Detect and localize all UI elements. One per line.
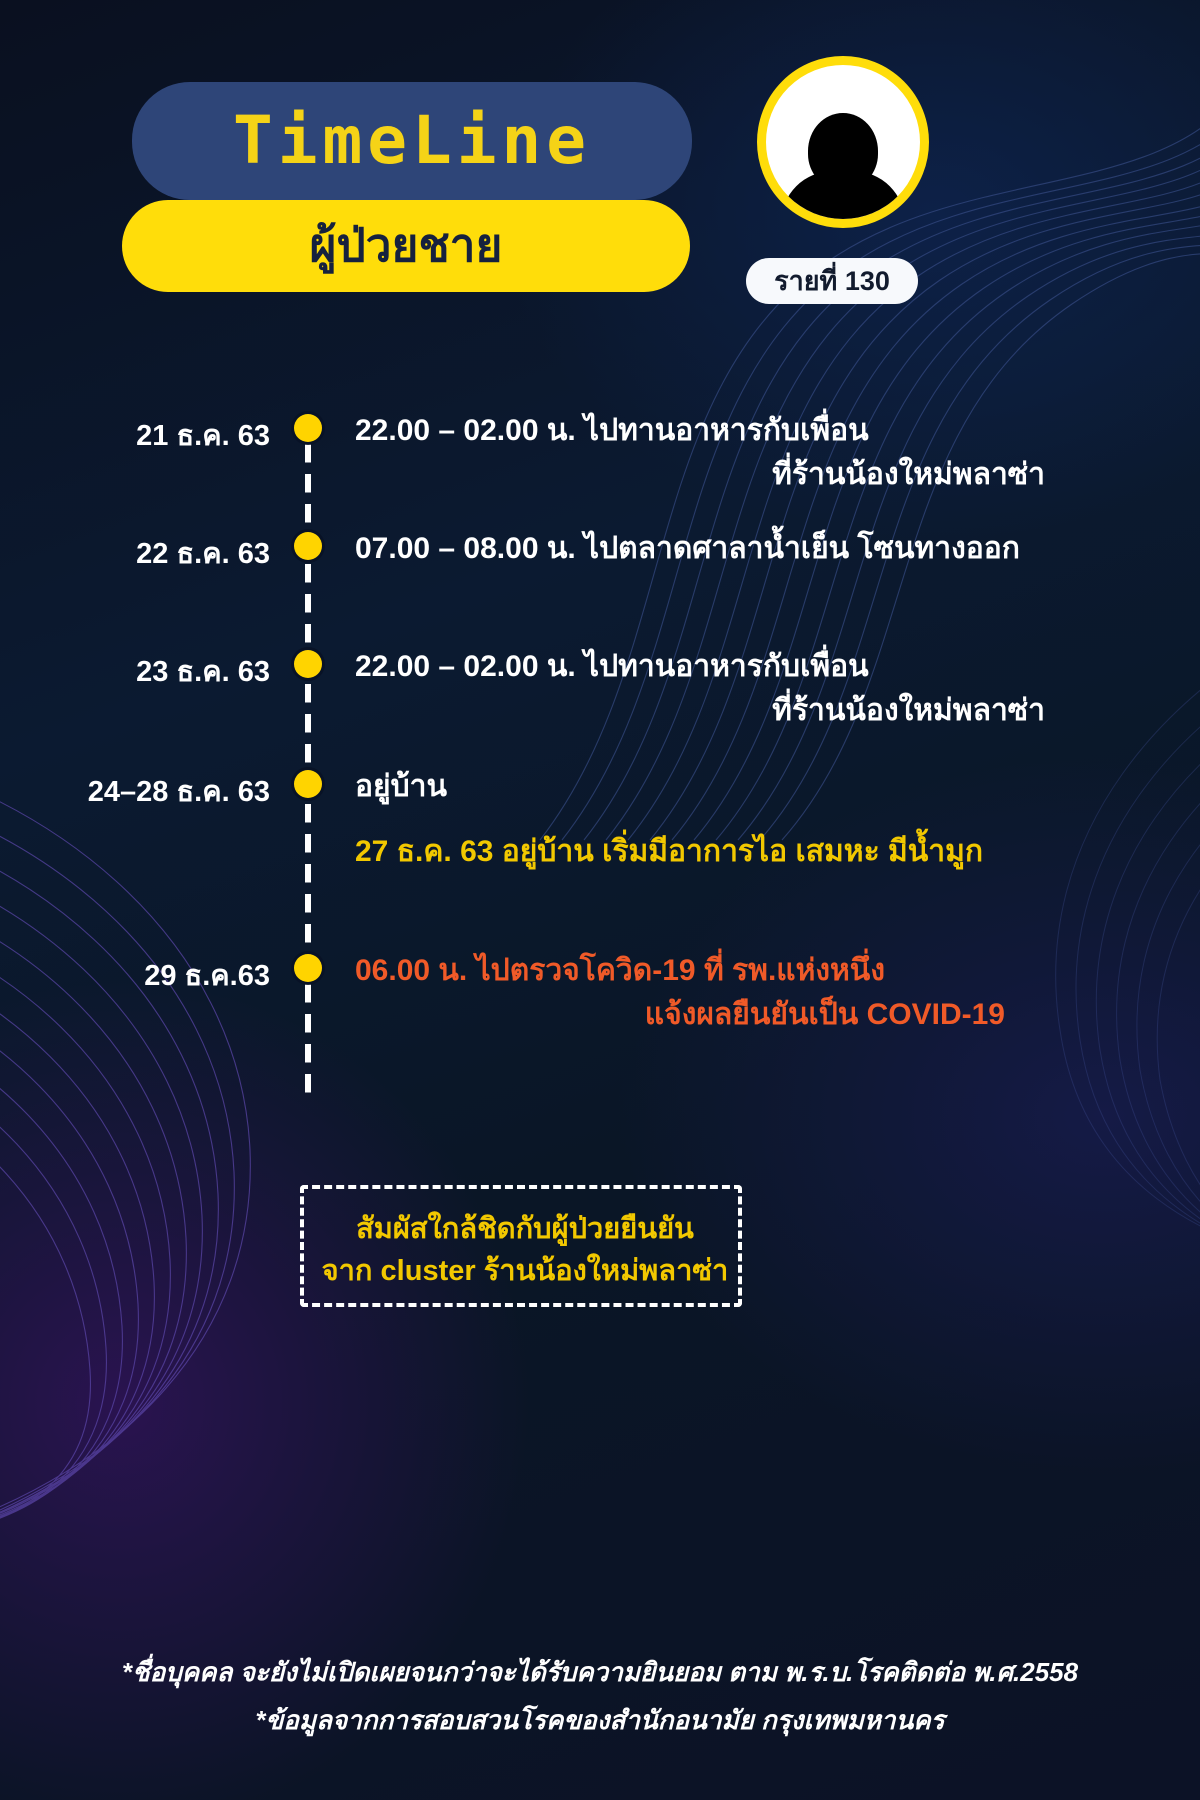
avatar-body-shape [781,171,905,223]
timeline-text: ที่ร้านน้องใหม่พลาซ่า [355,689,1045,733]
timeline-date: 24–28 ธ.ค. 63 [0,768,270,814]
timeline-body: 22.00 – 02.00 น. ไปทานอาหารกับเพื่อน ที่… [355,409,1045,497]
status-badge: รายที่ 130 [746,258,918,304]
avatar [757,56,929,228]
callout-content: สัมผัสใกล้ชิดกับผู้ป่วยยืนยัน จาก cluste… [304,1189,746,1311]
person-silhouette-icon [784,111,902,223]
timeline-text: อยู่บ้าน [355,765,1045,809]
page-title: TimeLine [132,82,692,200]
timeline-dot-icon [294,650,322,678]
timeline-infographic: TimeLine ผู้ป่วยชาย รายที่ 130 21 ธ.ค. 6… [0,0,1200,1800]
timeline-text: 07.00 – 08.00 น. ไปตลาดศาลาน้ำเย็น โซนทา… [355,527,1075,571]
timeline-text: 22.00 – 02.00 น. ไปทานอาหารกับเพื่อน [355,409,1045,453]
timeline-body: อยู่บ้าน [355,765,1045,809]
timeline-date: 29 ธ.ค.63 [0,952,270,998]
footer-line-2: *ข้อมูลจากการสอบสวนโรคของสำนักอนามัย กรุ… [0,1696,1200,1744]
timeline-text: 06.00 น. ไปตรวจโควิด-19 ที่ รพ.แห่งหนึ่ง [355,949,1005,993]
timeline-date: 22 ธ.ค. 63 [0,530,270,576]
timeline-dot-icon [294,954,322,982]
timeline-text: ที่ร้านน้องใหม่พลาซ่า [355,453,1045,497]
timeline-text: 22.00 – 02.00 น. ไปทานอาหารกับเพื่อน [355,645,1045,689]
timeline-body: 06.00 น. ไปตรวจโควิด-19 ที่ รพ.แห่งหนึ่ง… [355,949,1005,1037]
timeline-note: 27 ธ.ค. 63 อยู่บ้าน เริ่มมีอาการไอ เสมหะ… [355,830,1045,874]
footer-notes: *ชื่อบุคคล จะยังไม่เปิดเผยจนกว่าจะได้รับ… [0,1648,1200,1744]
page-subtitle: ผู้ป่วยชาย [122,200,690,292]
footer-line-1: *ชื่อบุคคล จะยังไม่เปิดเผยจนกว่าจะได้รับ… [0,1648,1200,1696]
timeline-body: 07.00 – 08.00 น. ไปตลาดศาลาน้ำเย็น โซนทา… [355,527,1075,571]
callout-line-2: จาก cluster ร้านน้องใหม่พลาซ่า [322,1250,729,1292]
timeline-text: แจ้งผลยืนยันเป็น COVID-19 [355,993,1005,1037]
timeline-body: 22.00 – 02.00 น. ไปทานอาหารกับเพื่อน ที่… [355,645,1045,733]
timeline-dot-icon [294,770,322,798]
poster-header: TimeLine ผู้ป่วยชาย รายที่ 130 [0,0,1200,360]
timeline-dot-icon [294,414,322,442]
timeline-note-text: 27 ธ.ค. 63 อยู่บ้าน เริ่มมีอาการไอ เสมหะ… [355,830,1045,874]
timeline-date: 21 ธ.ค. 63 [0,412,270,458]
timeline-date: 23 ธ.ค. 63 [0,648,270,694]
callout-box: สัมผัสใกล้ชิดกับผู้ป่วยยืนยัน จาก cluste… [300,1185,742,1307]
callout-line-1: สัมผัสใกล้ชิดกับผู้ป่วยยืนยัน [356,1208,694,1250]
timeline-dot-icon [294,532,322,560]
